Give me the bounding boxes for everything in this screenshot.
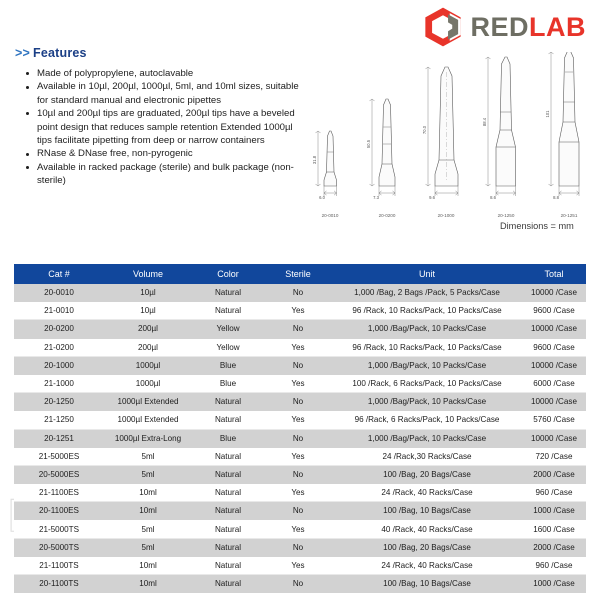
cell-color: Yellow [192, 320, 264, 338]
cell-unit: 1,000 /Bag/Pack, 10 Packs/Case [332, 320, 522, 338]
column-header-sterile: Sterile [264, 264, 332, 284]
tip-shape-2 [379, 99, 395, 186]
table-row: 20-001010µlNaturalNo1,000 /Bag, 2 Bags /… [14, 284, 586, 302]
cell-volume: 5ml [104, 465, 192, 483]
cell-color: Blue [192, 374, 264, 392]
dimensions-unit-caption: Dimensions = mm [500, 221, 574, 231]
cell-sterile: No [264, 429, 332, 447]
cell-volume: 1000µl [104, 374, 192, 392]
cell-volume: 200µl [104, 338, 192, 356]
bullet-icon [26, 86, 29, 89]
cell-total: 9600 /Case [522, 302, 586, 320]
cell-sterile: Yes [264, 447, 332, 465]
cell-unit: 1,000 /Bag/Pack, 10 Packs/Case [332, 393, 522, 411]
cell-color: Natural [192, 538, 264, 556]
cell-volume: 1000µl [104, 356, 192, 374]
tip-label-3: 20-1000 [438, 213, 455, 218]
cell-unit: 96 /Rack, 6 Racks/Pack, 10 Packs/Case [332, 411, 522, 429]
cell-volume: 5ml [104, 447, 192, 465]
cell-sterile: Yes [264, 338, 332, 356]
column-header-unit: Unit [332, 264, 522, 284]
table-row: 20-0200200µlYellowNo1,000 /Bag/Pack, 10 … [14, 320, 586, 338]
table-row: 20-5000ES5mlNaturalNo100 /Bag, 20 Bags/C… [14, 465, 586, 483]
features-list: Made of polypropylene, autoclavable Avai… [24, 67, 302, 188]
brand-word-lab: LAB [529, 14, 586, 41]
table-row: 21-001010µlNaturalYes96 /Rack, 10 Racks/… [14, 302, 586, 320]
cell-sterile: Yes [264, 556, 332, 574]
cell-volume: 5ml [104, 520, 192, 538]
cell-total: 5760 /Case [522, 411, 586, 429]
cell-sterile: No [264, 502, 332, 520]
table-row: 20-12501000µl ExtendedNaturalNo1,000 /Ba… [14, 393, 586, 411]
cell-unit: 100 /Bag, 10 Bags/Case [332, 502, 522, 520]
cell-total: 10000 /Case [522, 393, 586, 411]
tip-width-value-5: 8.8 [553, 195, 559, 200]
chevron-double-right-icon: >> [15, 46, 30, 60]
cell-total: 6000 /Case [522, 374, 586, 392]
table-row: 21-1100ES10mlNaturalYes24 /Rack, 40 Rack… [14, 484, 586, 502]
cell-total: 1000 /Case [522, 502, 586, 520]
cell-total: 10000 /Case [522, 429, 586, 447]
cell-unit: 100 /Rack, 6 Racks/Pack, 10 Packs/Case [332, 374, 522, 392]
brand-wordmark: REDLAB [470, 14, 586, 41]
cell-color: Blue [192, 356, 264, 374]
tip-height-value-4: 88.4 [482, 117, 487, 126]
bullet-icon [26, 72, 29, 75]
cell-color: Natural [192, 502, 264, 520]
cell-color: Natural [192, 575, 264, 593]
cell-cat: 21-0010 [14, 302, 104, 320]
cell-cat: 21-0200 [14, 338, 104, 356]
cell-cat: 20-0200 [14, 320, 104, 338]
bullet-icon [26, 166, 29, 169]
cell-sterile: No [264, 320, 332, 338]
cell-cat: 20-1100ES [14, 502, 104, 520]
tip-shape-1 [324, 131, 337, 186]
tip-width-value-2: 7.3 [373, 195, 379, 200]
tip-label-1: 20-0010 [322, 213, 339, 218]
table-row: 20-12511000µl Extra-LongBlueNo1,000 /Bag… [14, 429, 586, 447]
tip-shape-3 [435, 67, 458, 186]
column-header-cat: Cat # [14, 264, 104, 284]
tip-height-value-1: 31.8 [312, 155, 317, 164]
table-row: 21-0200200µlYellowYes96 /Rack, 10 Racks/… [14, 338, 586, 356]
tip-height-value-3: 70.0 [422, 125, 427, 134]
cell-sterile: No [264, 465, 332, 483]
cell-unit: 40 /Rack, 40 Racks/Case [332, 520, 522, 538]
cell-unit: 24 /Rack,30 Racks/Case [332, 447, 522, 465]
cell-unit: 1,000 /Bag, 2 Bags /Pack, 5 Packs/Case [332, 284, 522, 302]
cell-cat: 21-1100ES [14, 484, 104, 502]
cell-total: 9600 /Case [522, 338, 586, 356]
cell-cat: 20-1250 [14, 393, 104, 411]
feature-text: Available in 10µl, 200µl, 1000µl, 5ml, a… [37, 81, 299, 105]
cell-volume: 10µl [104, 302, 192, 320]
cell-color: Natural [192, 484, 264, 502]
cell-volume: 1000µl Extra-Long [104, 429, 192, 447]
cell-unit: 100 /Bag, 20 Bags/Case [332, 465, 522, 483]
cell-cat: 21-5000TS [14, 520, 104, 538]
brand-word-red: RED [470, 14, 529, 41]
tip-shape-5 [559, 52, 579, 186]
column-header-color: Color [192, 264, 264, 284]
cell-total: 1000 /Case [522, 575, 586, 593]
table-row: 20-1100TS10mlNaturalNo100 /Bag, 10 Bags/… [14, 575, 586, 593]
pipette-tip-dimension-diagram: 31.8 50.5 70.0 88.4 101 6.0 7.3 9.6 8.6 … [300, 52, 600, 237]
cell-cat: 20-1000 [14, 356, 104, 374]
cell-cat: 20-0010 [14, 284, 104, 302]
cell-cat: 21-1100TS [14, 556, 104, 574]
tip-height-value-5: 101 [545, 110, 550, 118]
bullet-icon [26, 112, 29, 115]
cell-total: 10000 /Case [522, 356, 586, 374]
table-row: 20-5000TS5mlNaturalNo100 /Bag, 20 Bags/C… [14, 538, 586, 556]
cell-volume: 10ml [104, 484, 192, 502]
cell-unit: 24 /Rack, 40 Racks/Case [332, 556, 522, 574]
cell-sterile: Yes [264, 520, 332, 538]
cell-cat: 20-1100TS [14, 575, 104, 593]
tip-label-5: 20-1251 [561, 213, 578, 218]
list-item: RNase & DNase free, non-pyrogenic [24, 147, 302, 160]
redlab-hexagon-icon [422, 6, 464, 48]
cell-volume: 10µl [104, 284, 192, 302]
cell-cat: 21-1250 [14, 411, 104, 429]
cell-sterile: Yes [264, 411, 332, 429]
cell-sterile: No [264, 575, 332, 593]
cell-sterile: Yes [264, 374, 332, 392]
feature-text: RNase & DNase free, non-pyrogenic [37, 148, 193, 159]
cell-unit: 1,000 /Bag/Pack, 10 Packs/Case [332, 356, 522, 374]
cell-unit: 96 /Rack, 10 Racks/Pack, 10 Packs/Case [332, 302, 522, 320]
features-heading: >>Features [15, 46, 87, 60]
cell-unit: 24 /Rack, 40 Racks/Case [332, 484, 522, 502]
cell-unit: 96 /Rack, 10 Racks/Pack, 10 Packs/Case [332, 338, 522, 356]
list-item: Available in racked package (sterile) an… [24, 161, 302, 188]
table-row: 21-1100TS10mlNaturalYes24 /Rack, 40 Rack… [14, 556, 586, 574]
column-header-volume: Volume [104, 264, 192, 284]
cell-sterile: No [264, 284, 332, 302]
features-title: Features [33, 46, 87, 60]
table-header-row: Cat # Volume Color Sterile Unit Total [14, 264, 586, 284]
tip-width-value-1: 6.0 [319, 195, 325, 200]
table-row: 21-5000TS5mlNaturalYes40 /Rack, 40 Racks… [14, 520, 586, 538]
cell-sterile: No [264, 356, 332, 374]
cell-total: 720 /Case [522, 447, 586, 465]
cell-total: 960 /Case [522, 484, 586, 502]
table-row: 21-5000ES5mlNaturalYes24 /Rack,30 Racks/… [14, 447, 586, 465]
cell-volume: 10ml [104, 575, 192, 593]
cell-volume: 1000µl Extended [104, 393, 192, 411]
list-item: Available in 10µl, 200µl, 1000µl, 5ml, a… [24, 80, 302, 107]
table-body: 20-001010µlNaturalNo1,000 /Bag, 2 Bags /… [14, 284, 586, 593]
cell-cat: 21-1000 [14, 374, 104, 392]
bullet-icon [26, 153, 29, 156]
product-specification-table: Cat # Volume Color Sterile Unit Total 20… [14, 264, 586, 593]
cell-total: 960 /Case [522, 556, 586, 574]
tip-drawings-svg: 31.8 50.5 70.0 88.4 101 6.0 7.3 9.6 8.6 … [300, 52, 600, 237]
cell-volume: 10ml [104, 556, 192, 574]
cell-color: Natural [192, 393, 264, 411]
tip-label-2: 20-0200 [379, 213, 396, 218]
tip-width-value-4: 8.6 [490, 195, 496, 200]
feature-text: Available in racked package (sterile) an… [37, 162, 294, 186]
cell-color: Natural [192, 284, 264, 302]
column-header-total: Total [522, 264, 586, 284]
cell-cat: 20-5000ES [14, 465, 104, 483]
cell-volume: 5ml [104, 538, 192, 556]
cell-sterile: No [264, 538, 332, 556]
feature-text: 10µl and 200µl tips are graduated, 200µl… [37, 108, 295, 146]
table-row: 21-12501000µl ExtendedNaturalYes96 /Rack… [14, 411, 586, 429]
cell-cat: 21-5000ES [14, 447, 104, 465]
cell-total: 1600 /Case [522, 520, 586, 538]
cell-color: Natural [192, 465, 264, 483]
cell-sterile: No [264, 393, 332, 411]
cell-unit: 100 /Bag, 20 Bags/Case [332, 538, 522, 556]
tip-shape-4 [496, 57, 516, 186]
cell-color: Yellow [192, 338, 264, 356]
cell-color: Natural [192, 447, 264, 465]
cell-sterile: Yes [264, 302, 332, 320]
cell-cat: 20-5000TS [14, 538, 104, 556]
cell-color: Natural [192, 411, 264, 429]
list-item: Made of polypropylene, autoclavable [24, 67, 302, 80]
cell-volume: 200µl [104, 320, 192, 338]
table-row: 21-10001000µlBlueYes100 /Rack, 6 Racks/P… [14, 374, 586, 392]
cell-color: Natural [192, 520, 264, 538]
cell-volume: 10ml [104, 502, 192, 520]
tip-height-value-2: 50.5 [366, 139, 371, 148]
feature-text: Made of polypropylene, autoclavable [37, 68, 193, 79]
cell-volume: 1000µl Extended [104, 411, 192, 429]
cell-total: 2000 /Case [522, 538, 586, 556]
table-row: 20-1100ES10mlNaturalNo100 /Bag, 10 Bags/… [14, 502, 586, 520]
cell-unit: 1,000 /Bag/Pack, 10 Packs/Case [332, 429, 522, 447]
brand-logo: REDLAB [422, 6, 586, 48]
tip-width-value-3: 9.6 [429, 195, 435, 200]
table-header: Cat # Volume Color Sterile Unit Total [14, 264, 586, 284]
cell-color: Natural [192, 302, 264, 320]
cell-sterile: Yes [264, 484, 332, 502]
cell-total: 10000 /Case [522, 284, 586, 302]
tip-label-4: 20-1250 [498, 213, 515, 218]
cell-cat: 20-1251 [14, 429, 104, 447]
list-item: 10µl and 200µl tips are graduated, 200µl… [24, 107, 302, 147]
cell-unit: 100 /Bag, 10 Bags/Case [332, 575, 522, 593]
table-row: 20-10001000µlBlueNo1,000 /Bag/Pack, 10 P… [14, 356, 586, 374]
cell-color: Blue [192, 429, 264, 447]
cell-total: 10000 /Case [522, 320, 586, 338]
cell-color: Natural [192, 556, 264, 574]
cell-total: 2000 /Case [522, 465, 586, 483]
